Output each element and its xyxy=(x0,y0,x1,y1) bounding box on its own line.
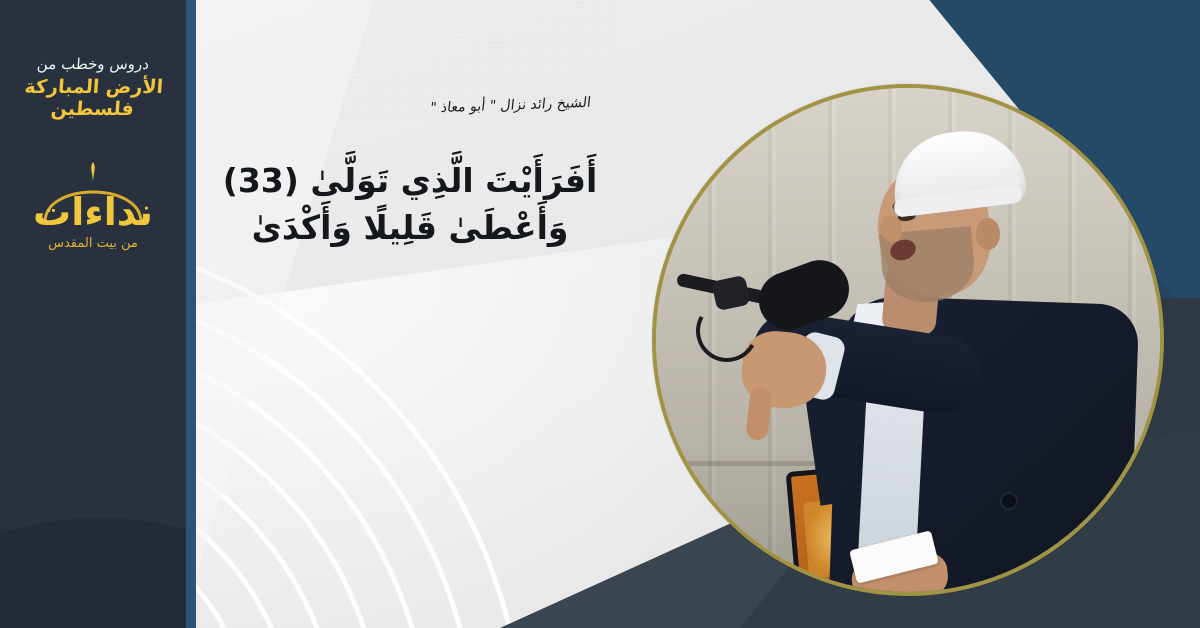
speaker-portrait xyxy=(652,84,1164,596)
portrait-photo xyxy=(656,88,1160,592)
blue-vertical-strip xyxy=(186,0,196,628)
brand-sidebar: دروس وخطب من الأرض المباركة فلسطين نداءا… xyxy=(0,0,186,628)
ayah-text: أَفَرَأَيْتَ الَّذِي تَوَلَّىٰ (33) وَأَ… xyxy=(200,158,620,252)
tagline-line-2: الأرض المباركة فلسطين xyxy=(0,77,186,121)
logo-wordmark: نداءات xyxy=(33,190,153,234)
coat-button-upper xyxy=(1002,494,1016,508)
coat-button-lower xyxy=(1008,574,1022,588)
sidebar-curve-decoration xyxy=(0,518,186,628)
ayah-line-1: أَفَرَأَيْتَ الَّذِي تَوَلَّىٰ (33) xyxy=(200,158,620,205)
social-card: الشيخ رائد نزال " أبو معاذ " أَفَرَأَيْت… xyxy=(0,0,1200,628)
brand-logo: نداءات من بيت المقدس xyxy=(0,154,186,264)
ayah-line-2: وَأَعْطَىٰ قَلِيلًا وَأَكْدَىٰ xyxy=(200,205,620,252)
logo-subtitle: من بيت المقدس xyxy=(48,236,138,251)
tagline-line-1: دروس وخطب من xyxy=(0,56,186,73)
ear xyxy=(976,218,1000,250)
